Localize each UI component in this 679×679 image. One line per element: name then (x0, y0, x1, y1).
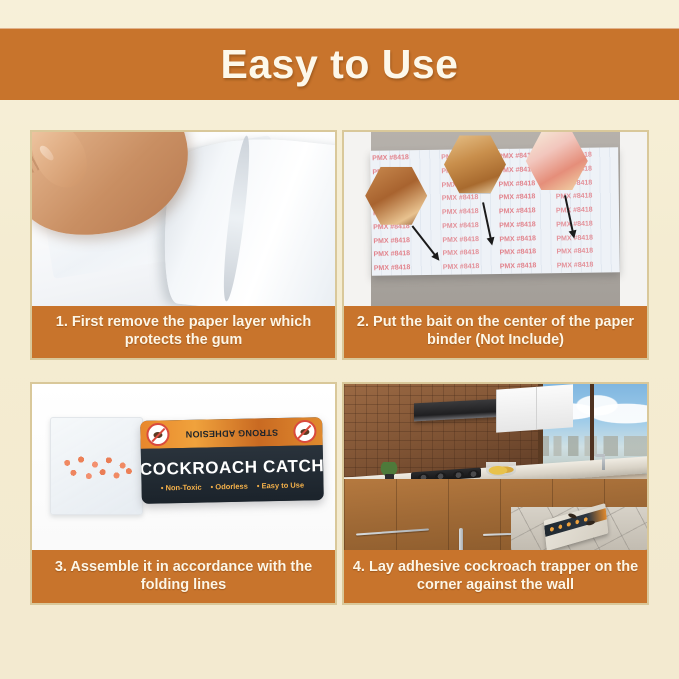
step-card-4: 4. Lay adhesive cockroach trapper on the… (342, 382, 649, 605)
package-adhesion-text: STRONG ADHESION (185, 427, 278, 438)
potted-plant (380, 462, 398, 480)
product-infographic-page: Easy to Use 1. First remove the paper la… (0, 0, 679, 679)
paper-watermark-text: PMX #8418 (500, 221, 557, 230)
paper-watermark-text: PMX #8418 (499, 207, 556, 216)
cabinet-handle (356, 529, 429, 536)
cockroach-icon (153, 431, 162, 437)
step-3-caption: 3. Assemble it in accordance with the fo… (32, 550, 335, 603)
paper-watermark-text: PMX #8418 (500, 235, 557, 244)
city-skyline (543, 436, 647, 456)
paper-watermark-text: PMX #8418 (374, 250, 435, 259)
package-title: COCKROACH CATCH (140, 456, 323, 480)
cockroach-icon (300, 428, 309, 434)
step-2-photo: PMX #8418PMX #8418PMX #8418PMX #8418PMX … (344, 132, 647, 306)
fruit-bowl (486, 462, 516, 476)
step-1-caption: 1. First remove the paper layer which pr… (32, 306, 335, 358)
sink-faucet (602, 454, 605, 470)
paper-watermark-text: PMX #8418 (443, 249, 496, 258)
header-banner: Easy to Use (0, 28, 679, 100)
step-card-3: STRONG ADHESION COCKROACH CATCH Non-Toxi… (30, 382, 337, 605)
upper-cabinet (496, 385, 573, 433)
feature-non-toxic: Non-Toxic (161, 483, 202, 493)
package-feature-list: Non-Toxic Odorless Easy to Use (161, 480, 304, 492)
feature-odorless: Odorless (211, 482, 248, 492)
paper-watermark-text: PMX #8418 (557, 220, 618, 229)
step-2-caption: 2. Put the bait on the center of the pap… (344, 306, 647, 358)
orange-bait-granules (58, 453, 134, 486)
paper-watermark-text: PMX #8418 (442, 194, 495, 203)
step-3-photo: STRONG ADHESION COCKROACH CATCH Non-Toxi… (32, 384, 335, 550)
white-margin-left (344, 132, 371, 306)
package-top-strip: STRONG ADHESION (140, 417, 322, 449)
package-body: COCKROACH CATCH Non-Toxic Odorless Easy … (141, 445, 324, 504)
step-card-2: PMX #8418PMX #8418PMX #8418PMX #8418PMX … (342, 130, 649, 360)
paper-watermark-text: PMX #8418 (557, 248, 618, 257)
steps-grid: 1. First remove the paper layer which pr… (30, 130, 649, 610)
finger (32, 132, 97, 197)
white-margin-right (620, 132, 647, 306)
product-package: STRONG ADHESION COCKROACH CATCH Non-Toxi… (140, 417, 323, 504)
feature-easy-to-use: Easy to Use (257, 480, 304, 490)
paper-watermark-text: PMX #8418 (499, 193, 556, 202)
burner-icon (468, 470, 479, 479)
step-4-caption: 4. Lay adhesive cockroach trapper on the… (344, 550, 647, 603)
fingernail (37, 144, 55, 163)
paper-watermark-text: PMX #8418 (557, 234, 618, 243)
paper-watermark-text: PMX #8418 (500, 248, 557, 257)
paper-watermark-text: PMX #8418 (374, 264, 435, 273)
paper-watermark-text: PMX #8418 (557, 261, 618, 270)
step-4-photo (344, 384, 647, 550)
page-title: Easy to Use (221, 44, 459, 85)
bait-granule-bag (50, 417, 143, 515)
cabinet-handle (459, 528, 463, 549)
step-1-photo (32, 132, 335, 306)
paper-watermark-text: PMX #8418 (442, 208, 495, 217)
step-card-1: 1. First remove the paper layer which pr… (30, 130, 337, 360)
no-cockroach-badge-right (293, 420, 316, 443)
paper-watermark-text: PMX #8418 (372, 154, 433, 163)
paper-watermark-text: PMX #8418 (500, 262, 557, 271)
no-cockroach-badge-left (146, 423, 169, 446)
paper-watermark-text: PMX #8418 (443, 263, 496, 272)
